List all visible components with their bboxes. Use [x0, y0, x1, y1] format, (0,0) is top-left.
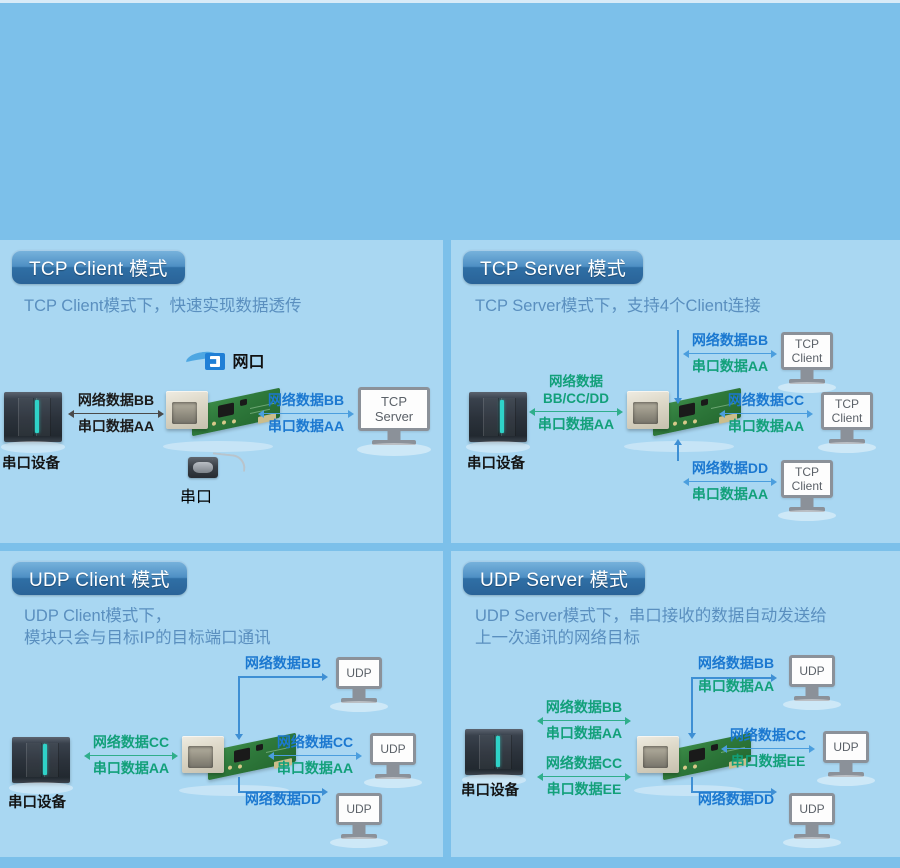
panel-tcp-client: TCP Client 模式 TCP Client模式下，快速实现数据透传 网口 …	[0, 240, 443, 543]
bottom-divider-line	[0, 861, 900, 868]
serial-device-plc-icon	[4, 392, 62, 442]
flow-net-label: 网络数据BB	[236, 655, 330, 672]
flow-client2-tcp-server: 网络数据CC 串口数据AA	[719, 392, 813, 435]
flow-left-tcp-server: 网络数据 BB/CC/DD 串口数据AA	[529, 373, 623, 433]
endpoint-monitor-tcp-client-2: TCP Client	[821, 392, 873, 430]
serial-cable-line	[211, 452, 246, 471]
endpoint-monitor-label: TCP Client	[821, 392, 873, 430]
flow-net-label: 网络数据CC	[721, 727, 815, 744]
flow-serial-label: 串口数据AA	[537, 725, 631, 742]
top-divider-line	[0, 0, 900, 3]
hero-banner	[0, 0, 900, 236]
flow-serial-label: 串口数据AA	[268, 760, 362, 777]
bidirectional-arrow-icon	[84, 751, 178, 760]
flow-left-lower-udp-server: 网络数据CC 串口数据EE	[537, 755, 631, 798]
serial-device-label: 串口设备	[467, 452, 525, 473]
flow-serial-label: 串口数据AA	[719, 418, 813, 435]
flow-udp1-udp-client: 网络数据BB	[236, 655, 330, 672]
serial-device-label: 串口设备	[2, 452, 60, 473]
panel-title-badge-tcp-client: TCP Client 模式	[12, 250, 185, 284]
flow-serial-label: 串口数据EE	[537, 781, 631, 798]
flow-serial-label: 串口数据AA	[68, 418, 164, 435]
bidirectional-arrow-icon	[719, 409, 813, 418]
endpoint-monitor-udp-3: UDP	[789, 793, 835, 825]
flow-udp3-udp-server: 网络数据DD	[689, 791, 783, 808]
panel-title-badge-udp-client: UDP Client 模式	[12, 561, 187, 595]
flow-net-label: 网络数据CC	[84, 734, 178, 751]
flow-net-label: 网络数据DD	[236, 791, 330, 808]
flow-serial-label: 串口数据AA	[683, 358, 777, 375]
flow-client1-tcp-server: 网络数据BB 串口数据AA	[683, 332, 777, 375]
elbow-connector-top	[238, 676, 328, 738]
bidirectional-arrow-icon	[529, 407, 623, 416]
plc-body	[465, 729, 523, 775]
flow-serial-label: 串口数据AA	[689, 678, 783, 695]
plc-slot	[18, 398, 34, 436]
panel-udp-server: UDP Server 模式 UDP Server模式下，串口接收的数据自动发送给…	[451, 551, 900, 857]
flow-net-label: 网络数据 BB/CC/DD	[529, 373, 623, 407]
endpoint-monitor-udp-2: UDP	[370, 733, 416, 765]
rj45-jack	[166, 391, 208, 429]
callout-network-port: 网口	[205, 348, 264, 372]
module-shadow	[163, 441, 273, 452]
serial-device-plc-icon	[469, 392, 527, 442]
flow-udp3-udp-client: 网络数据DD	[236, 791, 330, 808]
flow-net-label: 网络数据CC	[537, 755, 631, 772]
panel-tcp-server: TCP Server 模式 TCP Server模式下，支持4个Client连接…	[451, 240, 900, 543]
flow-serial-label: 串口数据AA	[84, 760, 178, 777]
flow-serial-label: 串口数据AA	[529, 416, 623, 433]
rj45-jack	[627, 391, 669, 429]
endpoint-monitor-label: TCP Client	[781, 460, 833, 498]
elbow-connector-bottom	[677, 445, 683, 461]
flow-net-label: 网络数据BB	[537, 699, 631, 716]
flow-right-tcp-client: 网络数据BB 串口数据AA	[258, 392, 354, 435]
endpoint-monitor-label: UDP	[789, 655, 835, 687]
panel-subtitle-udp-server: UDP Server模式下，串口接收的数据自动发送给 上一次通讯的网络目标	[475, 605, 827, 649]
endpoint-monitor-label: TCP Server	[358, 387, 430, 431]
flow-left-udp-client: 网络数据CC 串口数据AA	[84, 734, 178, 777]
endpoint-monitor-udp-1: UDP	[789, 655, 835, 687]
serial-device-label: 串口设备	[8, 791, 66, 812]
panel-subtitle-tcp-server: TCP Server模式下，支持4个Client连接	[475, 295, 761, 317]
plc-body	[4, 392, 62, 442]
panel-title-badge-udp-server: UDP Server 模式	[463, 561, 645, 595]
plc-body	[12, 737, 70, 783]
endpoint-monitor-label: UDP	[336, 657, 382, 689]
endpoint-monitor-udp-3: UDP	[336, 793, 382, 825]
bidirectional-arrow-icon	[683, 477, 777, 486]
flow-left-upper-udp-server: 网络数据BB 串口数据AA	[537, 699, 631, 742]
rj45-jack	[637, 736, 679, 773]
bidirectional-arrow-icon	[721, 744, 815, 753]
flow-net-label: 网络数据CC	[719, 392, 813, 409]
flow-net-label: 网络数据BB	[258, 392, 354, 409]
flow-net-label: 网络数据BB	[68, 392, 164, 409]
endpoint-monitor-udp-1: UDP	[336, 657, 382, 689]
serial-device-label: 串口设备	[461, 779, 519, 800]
flow-serial-label: 串口数据EE	[721, 753, 815, 770]
flow-net-label: 网络数据BB	[689, 655, 783, 672]
serial-device-plc-icon	[465, 729, 523, 775]
panel-subtitle-tcp-client: TCP Client模式下，快速实现数据透传	[24, 295, 301, 317]
flow-net-label: 网络数据DD	[689, 791, 783, 808]
endpoint-monitor-label: UDP	[336, 793, 382, 825]
endpoint-monitor-label: UDP	[823, 731, 869, 763]
panel-title-badge-tcp-server: TCP Server 模式	[463, 250, 643, 284]
endpoint-monitor-label: UDP	[789, 793, 835, 825]
flow-client3-tcp-server: 网络数据DD 串口数据AA	[683, 460, 777, 503]
bidirectional-arrow-icon	[537, 716, 631, 725]
ethernet-port-icon	[205, 353, 225, 370]
plc-body	[469, 392, 527, 442]
flow-serial-label: 串口数据AA	[258, 418, 354, 435]
serial-device-plc-icon	[12, 737, 70, 783]
callout-network-port-label: 网口	[232, 354, 264, 371]
rj45-jack	[182, 736, 224, 773]
flow-udp2-udp-server: 网络数据CC 串口数据EE	[721, 727, 815, 770]
endpoint-monitor-tcp-server: TCP Server	[358, 387, 430, 431]
panel-udp-client: UDP Client 模式 UDP Client模式下， 模块只会与目标IP的目…	[0, 551, 443, 857]
bidirectional-arrow-icon	[268, 751, 362, 760]
endpoint-monitor-label: UDP	[370, 733, 416, 765]
flow-serial-label: 串口数据AA	[683, 486, 777, 503]
flow-udp2-udp-client: 网络数据CC 串口数据AA	[268, 734, 362, 777]
plc-indicator	[35, 400, 39, 433]
poster-root: TCP Client 模式 TCP Client模式下，快速实现数据透传 网口 …	[0, 0, 900, 868]
bidirectional-arrow-icon	[537, 772, 631, 781]
panel-subtitle-udp-client: UDP Client模式下， 模块只会与目标IP的目标端口通讯	[24, 605, 271, 649]
endpoint-monitor-udp-2: UDP	[823, 731, 869, 763]
endpoint-monitor-label: TCP Client	[781, 332, 833, 370]
flow-net-label: 网络数据BB	[683, 332, 777, 349]
bidirectional-arrow-icon	[683, 349, 777, 358]
endpoint-monitor-tcp-client-3: TCP Client	[781, 460, 833, 498]
bidirectional-arrow-icon	[68, 409, 164, 418]
flow-udp1-udp-server: 网络数据BB 串口数据AA	[689, 655, 783, 695]
endpoint-monitor-tcp-client-1: TCP Client	[781, 332, 833, 370]
bidirectional-arrow-icon	[258, 409, 354, 418]
callout-serial-port-label: 串口	[180, 483, 212, 507]
flow-net-label: 网络数据CC	[268, 734, 362, 751]
flow-left-tcp-client: 网络数据BB 串口数据AA	[68, 392, 164, 435]
flow-net-label: 网络数据DD	[683, 460, 777, 477]
